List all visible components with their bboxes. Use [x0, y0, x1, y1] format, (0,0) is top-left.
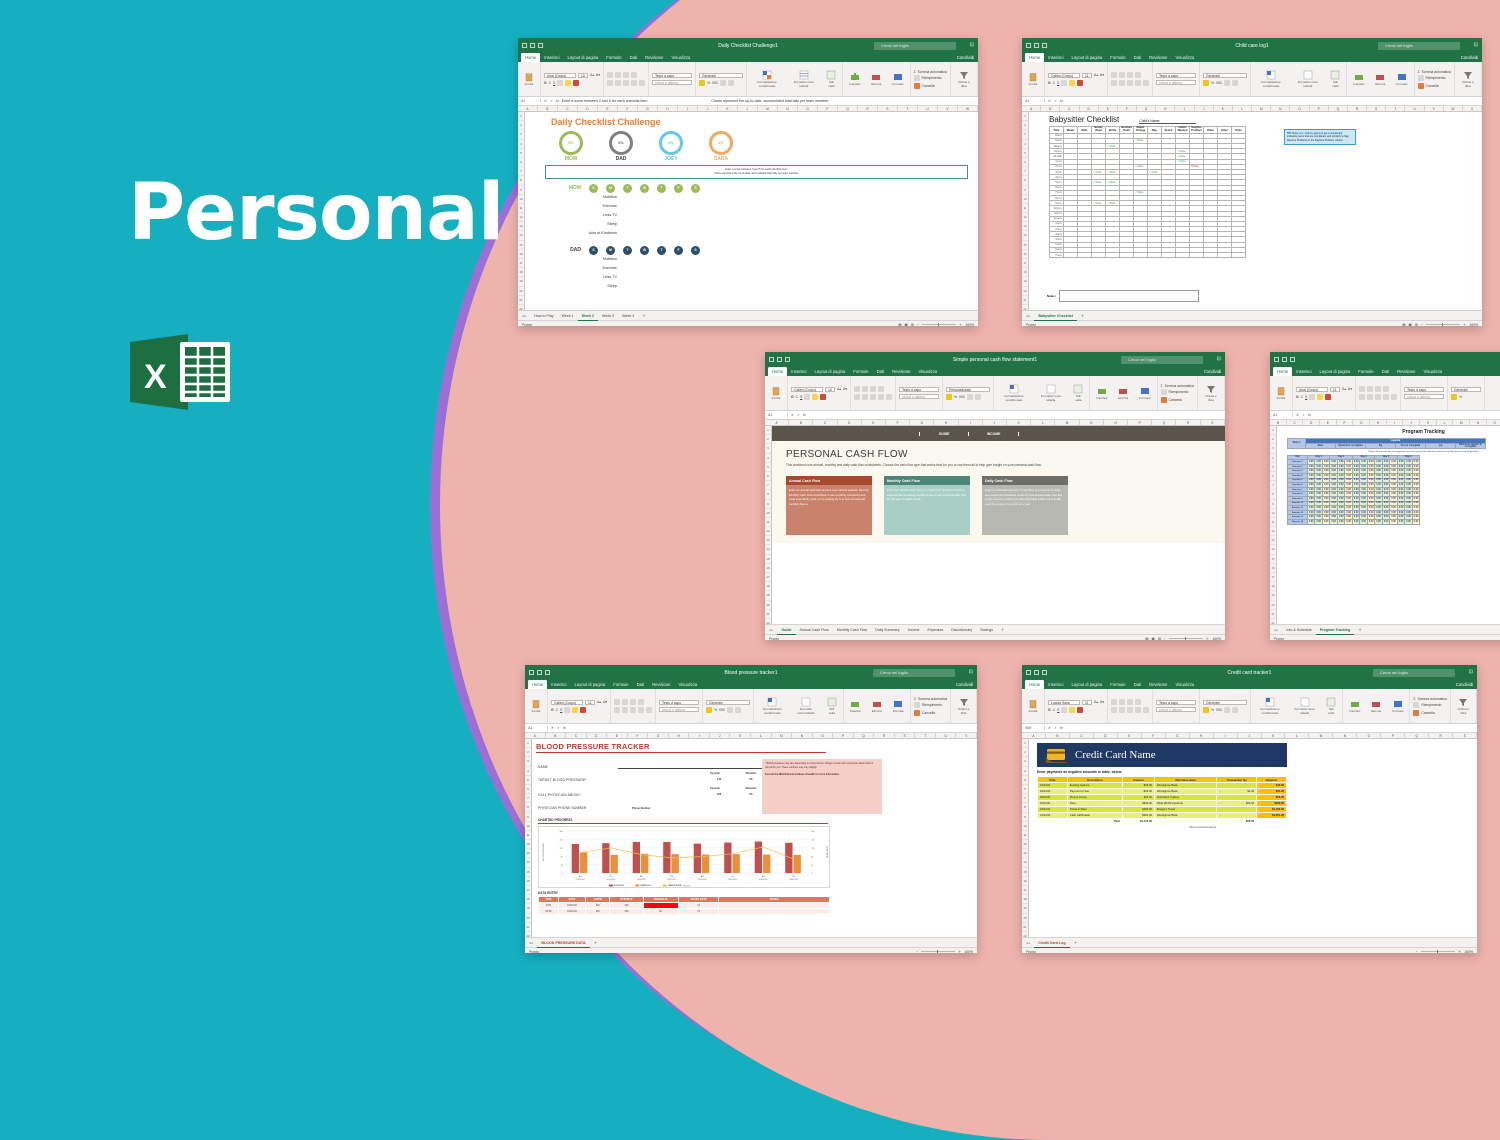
number-format-select[interactable]: Generale: [1451, 387, 1481, 393]
row-headers[interactable]: 1234567891011121314151617181920212223242…: [525, 739, 532, 937]
font-name-select[interactable]: Calibri (Corpo): [551, 700, 583, 706]
column-header[interactable]: D: [1094, 733, 1118, 738]
bold-icon[interactable]: G: [544, 81, 547, 85]
row-header[interactable]: 18: [765, 582, 771, 591]
align-right-icon[interactable]: [623, 80, 629, 86]
increase-font-icon[interactable]: A▴: [1342, 387, 1346, 391]
share-button[interactable]: Condividi: [1461, 55, 1478, 60]
font-name-select[interactable]: Calibri (Corpo): [1048, 73, 1080, 79]
increase-font-icon[interactable]: A▴: [1094, 73, 1098, 77]
align-right-icon[interactable]: [630, 707, 636, 713]
sheet-tabs[interactable]: Credit Card Log ＋: [1034, 939, 1081, 947]
tab-inserisci[interactable]: Inserisci: [547, 680, 570, 689]
orientation-icon[interactable]: [1383, 386, 1389, 392]
row-header[interactable]: 14: [765, 545, 771, 554]
decrease-indent-icon[interactable]: [1383, 394, 1389, 400]
notes-field[interactable]: [1059, 290, 1199, 302]
row-header[interactable]: 19: [765, 591, 771, 600]
row-header[interactable]: 4: [1022, 140, 1028, 149]
row-header[interactable]: 22: [525, 932, 531, 937]
align-middle-icon[interactable]: [1119, 72, 1125, 78]
column-header[interactable]: J: [710, 733, 731, 738]
row-header[interactable]: 13: [1022, 849, 1028, 858]
sheet-tab-bar[interactable]: ◂ ▸ How to Play Week 1 Week 2 Week 3 Wee…: [518, 310, 978, 320]
borders-icon[interactable]: [1061, 707, 1067, 713]
window-controls[interactable]: ⊡: [970, 42, 974, 48]
fill-color-icon[interactable]: [572, 707, 578, 713]
column-header[interactable]: I: [959, 420, 983, 425]
formula-bar[interactable]: S69 ✕✓fx: [1022, 724, 1477, 733]
borders-icon[interactable]: [564, 707, 570, 713]
value-cell[interactable]: 0.00: [1375, 519, 1382, 524]
row-header[interactable]: 20: [1270, 601, 1276, 610]
row-header[interactable]: 22: [1022, 932, 1028, 937]
clear-icon[interactable]: [1418, 83, 1424, 89]
comma-icon[interactable]: 000: [1216, 81, 1222, 85]
zoom-control[interactable]: −＋ 100%: [1416, 948, 1473, 953]
add-sheet-button[interactable]: ＋: [1070, 938, 1082, 947]
sheet-tab-active[interactable]: Program Tracking: [1316, 625, 1355, 635]
tab-visualizza[interactable]: Visualizza: [1171, 53, 1198, 62]
value-cell[interactable]: 0.00: [1337, 519, 1344, 524]
value-cell[interactable]: 0.00: [1330, 519, 1337, 524]
sheet-tab-bar[interactable]: ◂ ▸ GuideAnnual Cash FlowMonthly Cash Fl…: [765, 624, 1225, 634]
sheet-tab-active[interactable]: Guide: [777, 625, 795, 635]
underline-icon[interactable]: S: [553, 81, 555, 85]
number-format-select[interactable]: Generale: [1203, 700, 1247, 706]
ribbon-group-font[interactable]: Arial (Corpo) 10 A▴ A▾ G C S: [541, 62, 604, 96]
data-cell[interactable]: 18:00: [539, 908, 559, 914]
row-header[interactable]: 10: [765, 509, 771, 518]
delete-cells-button[interactable]: Elimina: [1368, 699, 1384, 713]
fx-icon[interactable]: fx: [1308, 413, 1311, 417]
row-header[interactable]: 14: [1270, 545, 1276, 554]
sheet-tab-active[interactable]: Week 2: [578, 311, 598, 321]
row-header[interactable]: 3: [1270, 444, 1276, 453]
align-left-icon[interactable]: [854, 394, 860, 400]
value-cell[interactable]: 0.00: [1390, 519, 1397, 524]
sheet-nav-arrows[interactable]: ◂ ▸: [1026, 941, 1030, 945]
column-header[interactable]: L: [1233, 106, 1252, 111]
cell-styles-button[interactable]: Stili cella: [824, 697, 840, 715]
row-header[interactable]: 17: [1022, 259, 1028, 268]
data-cell[interactable]: PM: [586, 908, 610, 914]
row-header[interactable]: 20: [765, 601, 771, 610]
row-header[interactable]: 10: [1022, 822, 1028, 831]
name-box[interactable]: S69: [1025, 726, 1045, 730]
row-header[interactable]: 9: [518, 186, 524, 195]
ribbon-group-alignment[interactable]: [851, 376, 896, 410]
row-header[interactable]: 5: [518, 149, 524, 158]
column-header[interactable]: F: [618, 106, 638, 111]
currency-icon[interactable]: [1203, 707, 1209, 713]
zoom-slider[interactable]: [922, 324, 956, 325]
conditional-formatting-button[interactable]: Formattazione condizionale: [997, 384, 1031, 402]
row-header[interactable]: 7: [525, 794, 531, 803]
row-header[interactable]: 17: [1022, 886, 1028, 895]
sort-filter-button[interactable]: Ordina e filtra: [954, 70, 974, 88]
insert-cells-button[interactable]: Inserisci: [846, 72, 863, 86]
row-header[interactable]: 21: [765, 610, 771, 619]
column-header[interactable]: F: [1337, 420, 1354, 425]
column-header[interactable]: M: [758, 106, 778, 111]
view-normal-icon[interactable]: ▤: [1145, 635, 1148, 641]
clear-icon[interactable]: [1161, 397, 1167, 403]
tab-dati[interactable]: Dati: [873, 367, 888, 376]
ribbon-group-clipboard[interactable]: Incolla: [1022, 62, 1045, 96]
babysitter-table[interactable]: TimeMealsBathBooks ReadBottleBrushed Tee…: [1049, 126, 1246, 258]
align-center-icon[interactable]: [862, 394, 868, 400]
cell-styles-button[interactable]: Stili cella: [1070, 384, 1086, 402]
align-middle-icon[interactable]: [1119, 699, 1125, 705]
align-middle-icon[interactable]: [1367, 386, 1373, 392]
row-header[interactable]: 20: [1022, 287, 1028, 296]
row-header[interactable]: 11: [525, 831, 531, 840]
column-header[interactable]: Q: [1152, 420, 1176, 425]
sheet-tab[interactable]: Discretionary: [947, 625, 976, 634]
wrap-text-button[interactable]: Testo a capo: [659, 700, 699, 706]
tab-dati[interactable]: Dati: [633, 680, 648, 689]
bold-icon[interactable]: G: [791, 395, 794, 399]
column-header[interactable]: G: [648, 733, 669, 738]
column-header[interactable]: Q: [854, 733, 875, 738]
row-header[interactable]: 17: [525, 886, 531, 895]
increase-decimal-icon[interactable]: [1224, 80, 1230, 86]
tab-revisione[interactable]: Revisione: [1145, 680, 1171, 689]
row-header[interactable]: 1: [1270, 426, 1276, 435]
column-header[interactable]: M: [1252, 106, 1271, 111]
column-header[interactable]: F: [628, 733, 649, 738]
row-header[interactable]: 9: [765, 500, 771, 509]
ribbon[interactable]: Incolla Arial (Corpo)11A▴A▾ GCS Testo a …: [1270, 376, 1500, 411]
checklist-cell[interactable]: [1148, 253, 1162, 258]
row-header[interactable]: 16: [1022, 250, 1028, 259]
currency-icon[interactable]: [699, 80, 705, 86]
tab-home[interactable]: Home: [1025, 680, 1044, 689]
row-header[interactable]: 7: [765, 481, 771, 490]
merge-center-button[interactable]: Unisci e allinea: [1404, 394, 1444, 400]
row-header[interactable]: 5: [765, 463, 771, 472]
decrease-indent-icon[interactable]: [631, 80, 637, 86]
row-header[interactable]: 14: [1022, 858, 1028, 867]
column-header[interactable]: K: [730, 733, 751, 738]
value-cell[interactable]: 0.00: [1382, 519, 1389, 524]
column-header[interactable]: F: [1142, 733, 1166, 738]
tab-formule[interactable]: Formule: [1106, 680, 1129, 689]
column-header[interactable]: N: [1333, 733, 1357, 738]
ribbon-tabs[interactable]: Home Inserisci Layout di pagina Formule …: [1022, 53, 1482, 62]
sort-filter-button[interactable]: Ordina e filtra: [1201, 384, 1221, 402]
column-header[interactable]: O: [1357, 733, 1381, 738]
merge-center-button[interactable]: Unisci e allinea: [1156, 80, 1196, 86]
sheet-tab-bar[interactable]: ◂ ▸ Info & Schedule Program Tracking ＋: [1270, 624, 1500, 634]
row-header[interactable]: 8: [525, 803, 531, 812]
row-header[interactable]: 3: [525, 757, 531, 766]
bp-target-diastolic[interactable]: 90: [740, 778, 762, 781]
sheet-tab[interactable]: How to Play: [530, 311, 557, 320]
quick-access-toolbar[interactable]: [1274, 357, 1295, 362]
window-controls[interactable]: ⊡: [1469, 669, 1473, 675]
align-middle-icon[interactable]: [622, 699, 628, 705]
checklist-cell[interactable]: [1092, 253, 1106, 258]
align-bottom-icon[interactable]: [1127, 72, 1133, 78]
name-box[interactable]: A1: [1025, 99, 1045, 103]
row-header[interactable]: 19: [1022, 277, 1028, 286]
fill-icon[interactable]: [914, 75, 920, 81]
align-top-icon[interactable]: [1359, 386, 1365, 392]
share-button[interactable]: Condividi: [1456, 682, 1473, 687]
column-header[interactable]: L: [1437, 420, 1454, 425]
row-header[interactable]: 6: [525, 785, 531, 794]
row-header[interactable]: 8: [1022, 803, 1028, 812]
tab-home[interactable]: Home: [1273, 367, 1292, 376]
column-header[interactable]: N: [1470, 420, 1487, 425]
column-header[interactable]: I: [1175, 106, 1194, 111]
row-header[interactable]: 6: [518, 158, 524, 167]
zoom-in-button[interactable]: ＋: [1463, 321, 1466, 327]
quick-access-toolbar[interactable]: [1026, 670, 1047, 675]
column-header[interactable]: M: [772, 733, 793, 738]
zoom-out-button[interactable]: −: [1421, 321, 1423, 327]
sheet-tabs[interactable]: GuideAnnual Cash FlowMonthly Cash FlowDa…: [777, 626, 1008, 634]
row-header[interactable]: 5: [1270, 463, 1276, 472]
column-header[interactable]: Q: [1405, 733, 1429, 738]
sheet-tab[interactable]: Daily Summary: [871, 625, 903, 634]
column-header[interactable]: H: [934, 420, 958, 425]
autosum-button[interactable]: Σ: [1413, 697, 1415, 701]
increase-decimal-icon[interactable]: [1224, 707, 1230, 713]
fill-icon[interactable]: [1418, 75, 1424, 81]
increase-font-icon[interactable]: A▴: [1094, 700, 1098, 704]
column-header[interactable]: L: [1285, 733, 1309, 738]
view-layout-icon[interactable]: ▦: [905, 321, 908, 327]
row-header[interactable]: 2: [525, 748, 531, 757]
name-box[interactable]: A1: [768, 413, 788, 417]
formula-bar[interactable]: A1 ✕✓fx Enter a score between 0 and 5 fo…: [518, 97, 978, 106]
view-normal-icon[interactable]: ▤: [1402, 321, 1405, 327]
cell-styles-button[interactable]: Stili cella: [1327, 70, 1343, 88]
column-header[interactable]: G: [1166, 733, 1190, 738]
checklist-cell[interactable]: [1190, 253, 1204, 258]
column-header[interactable]: K: [1214, 106, 1233, 111]
row-header[interactable]: 11: [1022, 831, 1028, 840]
column-header[interactable]: O: [1487, 420, 1500, 425]
bp-call-systolic[interactable]: 160: [708, 793, 730, 796]
card-daily[interactable]: Daily Cash Flow Enter an estimated amoun…: [982, 476, 1068, 535]
row-header[interactable]: 2: [518, 121, 524, 130]
column-header[interactable]: B: [546, 733, 567, 738]
formula-bar[interactable]: A1 ✕✓fx: [765, 411, 1225, 420]
align-left-icon[interactable]: [614, 707, 620, 713]
tab-dati[interactable]: Dati: [1130, 680, 1145, 689]
column-header[interactable]: C: [1060, 106, 1079, 111]
row-header[interactable]: 18: [1270, 582, 1276, 591]
credit-card-table[interactable]: DateDescriptionAmountMerchant nameTransa…: [1037, 776, 1287, 825]
wrap-text-button[interactable]: Testo a capo: [1156, 73, 1196, 79]
formula-bar[interactable]: A1 ✕✓fx: [1270, 411, 1500, 420]
zoom-control[interactable]: ▤▦▥ −＋ 100%: [898, 321, 974, 326]
view-break-icon[interactable]: ▥: [911, 321, 914, 327]
excel-window-blood-pressure[interactable]: Blood pressure tracker1 Cerca nel foglio…: [525, 665, 977, 953]
column-header[interactable]: P: [1310, 106, 1329, 111]
zoom-slider[interactable]: [1421, 951, 1455, 952]
bold-icon[interactable]: G: [551, 708, 554, 712]
bp-target-systolic[interactable]: 140: [708, 778, 730, 781]
sheet-nav-arrows[interactable]: ◂ ▸: [1274, 628, 1278, 632]
ribbon-group-editing[interactable]: ΣSomma automatica Riempimento Cancella: [1158, 376, 1198, 410]
column-header[interactable]: C: [1287, 420, 1304, 425]
column-header[interactable]: D: [578, 106, 598, 111]
tab-home[interactable]: Home: [1025, 53, 1044, 62]
add-sheet-button[interactable]: ＋: [1077, 311, 1089, 320]
zoom-out-button[interactable]: −: [1416, 948, 1418, 954]
format-cells-button[interactable]: Formato: [890, 699, 907, 713]
data-cell[interactable]: 70: [678, 908, 719, 914]
sheet-tabs[interactable]: How to Play Week 1 Week 2 Week 3 Week 4 …: [530, 312, 649, 320]
format-as-table-button[interactable]: Formatta come tabella: [1293, 70, 1322, 88]
tab-inserisci[interactable]: Inserisci: [540, 53, 563, 62]
column-header[interactable]: R: [858, 106, 878, 111]
ribbon-group-editing[interactable]: ΣSomma automatica Riempimento Cancella: [911, 62, 951, 96]
cell-styles-button[interactable]: Stili cella: [1323, 697, 1339, 715]
column-header[interactable]: H: [1156, 106, 1175, 111]
row-header[interactable]: 17: [518, 259, 524, 268]
bold-icon[interactable]: G: [1048, 81, 1051, 85]
ribbon-group-alignment[interactable]: [1108, 62, 1153, 96]
column-header[interactable]: I: [1387, 420, 1404, 425]
align-center-icon[interactable]: [1367, 394, 1373, 400]
row-header[interactable]: 4: [518, 140, 524, 149]
row-header[interactable]: 20: [525, 914, 531, 923]
bp-data-table[interactable]: TIMEDATEAM/PMSYSTOLICDIASTOLICHEART RATE…: [538, 896, 830, 915]
fill-color-icon[interactable]: [1069, 80, 1075, 86]
row-header[interactable]: 18: [518, 268, 524, 277]
checklist-cell[interactable]: [1134, 253, 1148, 258]
row-header[interactable]: 4: [765, 454, 771, 463]
column-header[interactable]: M: [1055, 420, 1079, 425]
row-header[interactable]: 22: [518, 305, 524, 310]
increase-decimal-icon[interactable]: [727, 707, 733, 713]
view-layout-icon[interactable]: ▦: [1152, 635, 1155, 641]
row-header[interactable]: 11: [1270, 518, 1276, 527]
increase-font-icon[interactable]: A▴: [597, 700, 601, 704]
column-header[interactable]: O: [1104, 420, 1128, 425]
comma-icon[interactable]: 000: [1216, 708, 1222, 712]
ribbon-group-styles[interactable]: Formattazione condizionale Formatta come…: [994, 376, 1090, 410]
column-header[interactable]: E: [1118, 733, 1142, 738]
add-sheet-button[interactable]: ＋: [1354, 625, 1366, 634]
confirm-icon[interactable]: ✓: [1302, 413, 1305, 417]
sheet-tab-active[interactable]: BLOOD PRESSURE DATA: [537, 938, 589, 948]
fill-icon[interactable]: [914, 702, 920, 708]
merge-center-button[interactable]: Unisci e allinea: [652, 80, 692, 86]
conditional-formatting-button[interactable]: Formattazione condizionale: [1254, 70, 1288, 88]
orientation-icon[interactable]: [1135, 699, 1141, 705]
column-header[interactable]: J: [1238, 733, 1262, 738]
value-cell[interactable]: 0.00: [1322, 519, 1329, 524]
column-header[interactable]: K: [1007, 420, 1031, 425]
column-header[interactable]: E: [1099, 106, 1118, 111]
percent-icon[interactable]: %: [707, 81, 710, 85]
quick-access-toolbar[interactable]: [769, 357, 790, 362]
zoom-out-button[interactable]: −: [1164, 635, 1166, 641]
sheet-tab[interactable]: Expenses: [923, 625, 947, 634]
row-header[interactable]: 18: [525, 895, 531, 904]
comma-icon[interactable]: 000: [712, 81, 718, 85]
ribbon-group-clipboard[interactable]: Incolla: [1270, 376, 1293, 410]
ribbon-group-editing[interactable]: ΣSomma automatica Riempimento Cancella: [1415, 62, 1455, 96]
font-color-icon[interactable]: [1325, 394, 1331, 400]
sheet-content[interactable]: Credit Card Name Enter payments as negat…: [1029, 739, 1477, 937]
sheet-nav-arrows[interactable]: ◂ ▸: [529, 941, 533, 945]
worksheet-grid[interactable]: 1234567891011121314151617181920212223242…: [525, 739, 977, 937]
confirm-icon[interactable]: ✓: [1054, 726, 1057, 730]
column-header[interactable]: H: [658, 106, 678, 111]
sheet-tab[interactable]: Week 1: [558, 311, 578, 320]
conditional-formatting-button[interactable]: Formattazione condizionale: [1254, 697, 1286, 715]
conditional-formatting-button[interactable]: Formattazione condizionale: [757, 697, 788, 715]
percent-icon[interactable]: %: [714, 708, 717, 712]
row-header[interactable]: 20: [1022, 914, 1028, 923]
fill-color-icon[interactable]: [812, 394, 818, 400]
sheet-tab[interactable]: Monthly Cash Flow: [833, 625, 872, 634]
cancel-icon[interactable]: ✕: [791, 413, 794, 417]
column-header[interactable]: Q: [838, 106, 858, 111]
fx-icon[interactable]: fx: [556, 99, 559, 103]
delete-cells-button[interactable]: Elimina: [868, 72, 884, 86]
column-header[interactable]: J: [1403, 420, 1420, 425]
sheet-tab-bar[interactable]: ◂ ▸ BLOOD PRESSURE DATA ＋: [525, 937, 977, 947]
row-header[interactable]: 8: [518, 176, 524, 185]
row-header[interactable]: 14: [1022, 231, 1028, 240]
column-header[interactable]: E: [862, 420, 886, 425]
row-header[interactable]: 1: [1022, 112, 1028, 121]
ribbon-group-cells[interactable]: Inserisci Elimina Formato: [844, 689, 911, 723]
format-cells-button[interactable]: Formato: [1393, 72, 1410, 86]
column-header[interactable]: K: [718, 106, 738, 111]
nav-guide-button[interactable]: GUIDE: [919, 432, 969, 436]
fill-icon[interactable]: [1413, 702, 1419, 708]
insert-cells-button[interactable]: Inserisci: [1093, 386, 1110, 400]
autosum-button[interactable]: Σ: [914, 697, 916, 701]
data-cell[interactable]: 125: [610, 908, 643, 914]
sheet-tab-bar[interactable]: ◂ ▸ Babysitter Checklist ＋: [1022, 310, 1482, 320]
ribbon-group-cells[interactable]: Inserisci Elimina Formato: [1343, 689, 1410, 723]
font-size-select[interactable]: 10: [578, 73, 588, 79]
zoom-in-button[interactable]: ＋: [959, 321, 962, 327]
align-center-icon[interactable]: [1119, 80, 1125, 86]
fill-color-icon[interactable]: [1069, 707, 1075, 713]
value-cell[interactable]: 0.00: [1405, 519, 1412, 524]
column-header[interactable]: I: [678, 106, 698, 111]
tab-inserisci[interactable]: Inserisci: [1044, 680, 1067, 689]
row-header[interactable]: 7: [518, 167, 524, 176]
row-header[interactable]: 12: [1022, 213, 1028, 222]
font-name-select[interactable]: Arial (Corpo): [1296, 387, 1328, 393]
checklist-cell[interactable]: [1106, 253, 1120, 258]
row-header[interactable]: 4: [525, 767, 531, 776]
font-size-select[interactable]: 11: [585, 700, 595, 706]
tab-revisione[interactable]: Revisione: [1145, 53, 1171, 62]
ribbon-group-sort[interactable]: Ordina e filtra: [951, 62, 978, 96]
bold-icon[interactable]: G: [1296, 395, 1299, 399]
column-header[interactable]: E: [607, 733, 628, 738]
autosum-button[interactable]: Σ: [914, 70, 916, 74]
column-header[interactable]: G: [638, 106, 658, 111]
align-center-icon[interactable]: [615, 80, 621, 86]
row-header[interactable]: 18: [1022, 895, 1028, 904]
number-format-select[interactable]: Generale: [706, 700, 750, 706]
